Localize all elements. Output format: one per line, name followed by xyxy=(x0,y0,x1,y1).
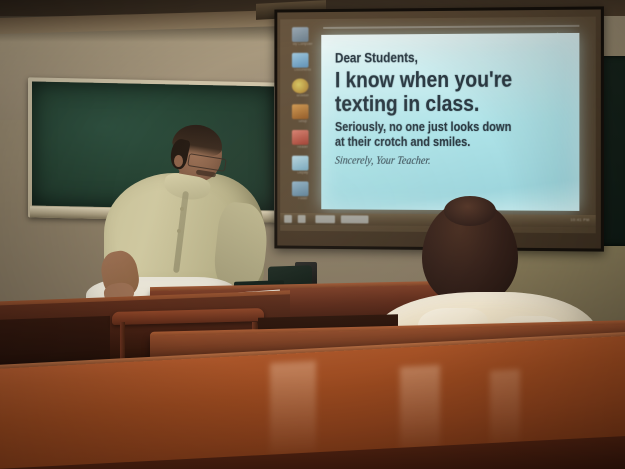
teacher-ear xyxy=(174,155,183,167)
window-titlebar-line xyxy=(323,25,579,29)
desktop-icon-label-0: My Computer xyxy=(288,43,317,50)
student-hair-bun xyxy=(444,196,496,226)
desktop-icon-display[interactable] xyxy=(292,156,309,171)
desk-reflection-1 xyxy=(270,361,316,455)
slide-signature: Sincerely, Your Teacher. xyxy=(334,155,550,168)
desktop-icon-label-3: Setup xyxy=(288,120,317,127)
desktop-icon-label-4: Reader xyxy=(288,146,317,153)
chair-backrest xyxy=(112,308,264,325)
slide-body-line1: Seriously, no one just looks down xyxy=(335,120,541,135)
taskbar-window-2[interactable] xyxy=(341,215,369,223)
slide-headline-line2: texting in class. xyxy=(335,92,541,116)
classroom-photo: My Computer Documents Browser Setup Read… xyxy=(0,0,625,469)
slide-body-line2: at their crotch and smiles. xyxy=(335,135,541,150)
shirt-button-2 xyxy=(177,229,181,233)
desktop-icon-label-5: Display xyxy=(288,171,317,178)
desktop-icon-browser[interactable] xyxy=(292,79,309,94)
taskbar-start-button[interactable] xyxy=(284,215,292,223)
desktop-icon-reader[interactable] xyxy=(292,130,309,145)
desktop-icon-label-1: Documents xyxy=(288,69,317,76)
desktop-icon-column: My Computer Documents Browser Setup Read… xyxy=(288,27,317,211)
desktop-icon-documents[interactable] xyxy=(292,53,309,68)
shirt-button-1 xyxy=(180,207,184,211)
projected-slide: Dear Students, I know when you're textin… xyxy=(321,33,579,211)
desk-reflection-3 xyxy=(490,369,520,449)
slide-text-block: Dear Students, I know when you're textin… xyxy=(335,49,569,167)
desktop-icon-label-2: Browser xyxy=(288,94,317,101)
taskbar-quicklaunch-1[interactable] xyxy=(298,215,306,223)
desk-reflection-2 xyxy=(400,365,440,453)
desktop-icon-folder[interactable] xyxy=(292,181,309,196)
desktop-icon-setup[interactable] xyxy=(292,104,309,119)
taskbar-window-1[interactable] xyxy=(315,215,335,223)
chair-leg-left xyxy=(120,322,125,362)
slide-headline-line1: I know when you're xyxy=(335,67,541,92)
desktop-icon-my-computer[interactable] xyxy=(292,27,309,42)
slide-salutation: Dear Students, xyxy=(335,49,541,66)
desktop-icon-label-6: Folder xyxy=(288,197,317,204)
